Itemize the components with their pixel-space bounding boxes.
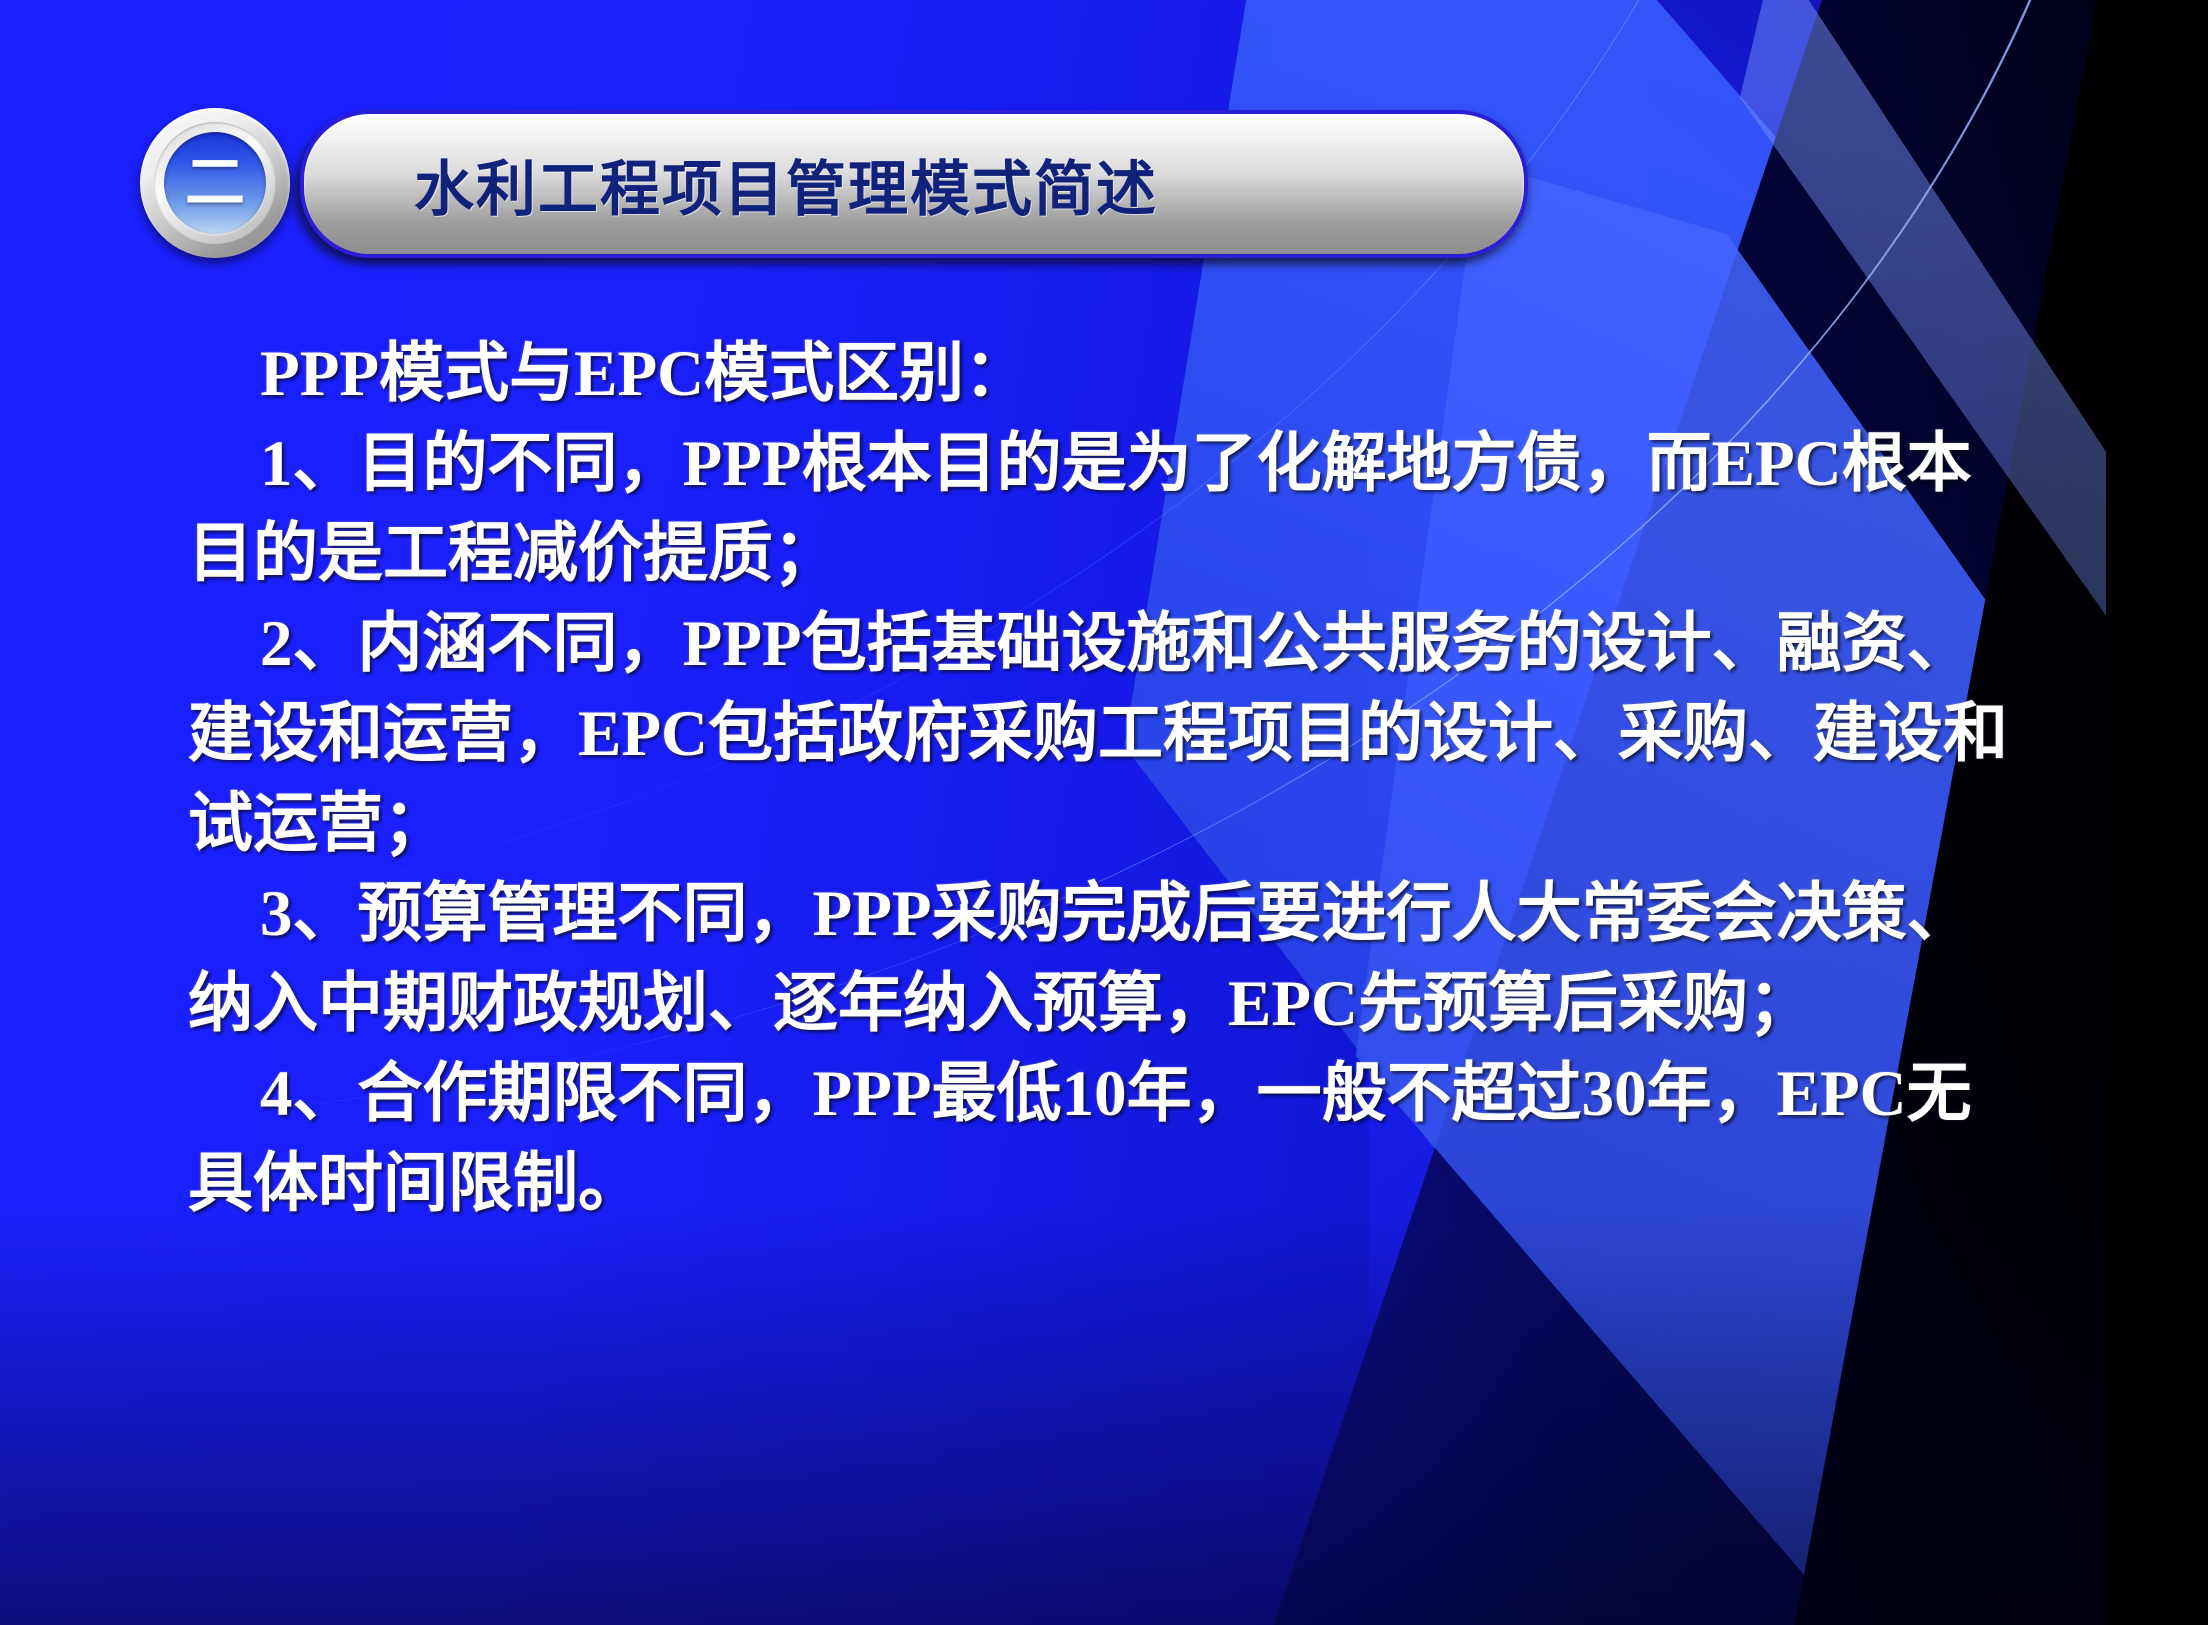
body-line: 纳入中期财政规划、逐年纳入预算，EPC先预算后采购；	[188, 960, 2068, 1048]
body-line: PPP模式与EPC模式区别：	[188, 330, 2068, 418]
page-title: 水利工程项目管理模式简述	[414, 141, 1158, 228]
body-line: 2、内涵不同，PPP包括基础设施和公共服务的设计、融资、	[188, 600, 2068, 688]
title-pill: 水利工程项目管理模式简述	[300, 110, 1528, 258]
body-line: 1、目的不同，PPP根本目的是为了化解地方债，而EPC根本	[188, 420, 2068, 508]
background-bottom-shade	[0, 1203, 2208, 1625]
badge-number-label: 二	[185, 153, 245, 213]
slide-title-banner: 水利工程项目管理模式简述 二	[140, 108, 1520, 256]
body-line: 具体时间限制。	[188, 1140, 2068, 1228]
body-line: 试运营；	[188, 780, 2068, 868]
body-line: 4、合作期限不同，PPP最低10年，一般不超过30年，EPC无	[188, 1050, 2068, 1138]
body-line: 目的是工程减价提质；	[188, 510, 2068, 598]
section-number-badge: 二	[140, 108, 290, 258]
badge-inner-circle: 二	[164, 132, 266, 234]
slide-body-text: PPP模式与EPC模式区别： 1、目的不同，PPP根本目的是为了化解地方债，而E…	[188, 330, 2068, 1230]
body-line: 3、预算管理不同，PPP采购完成后要进行人大常委会决策、	[188, 870, 2068, 958]
body-line: 建设和运营，EPC包括政府采购工程项目的设计、采购、建设和	[188, 690, 2068, 778]
presentation-slide: 水利工程项目管理模式简述 二 PPP模式与EPC模式区别： 1、目的不同，PPP…	[0, 0, 2208, 1625]
background-right-black-bar	[2106, 0, 2208, 1625]
